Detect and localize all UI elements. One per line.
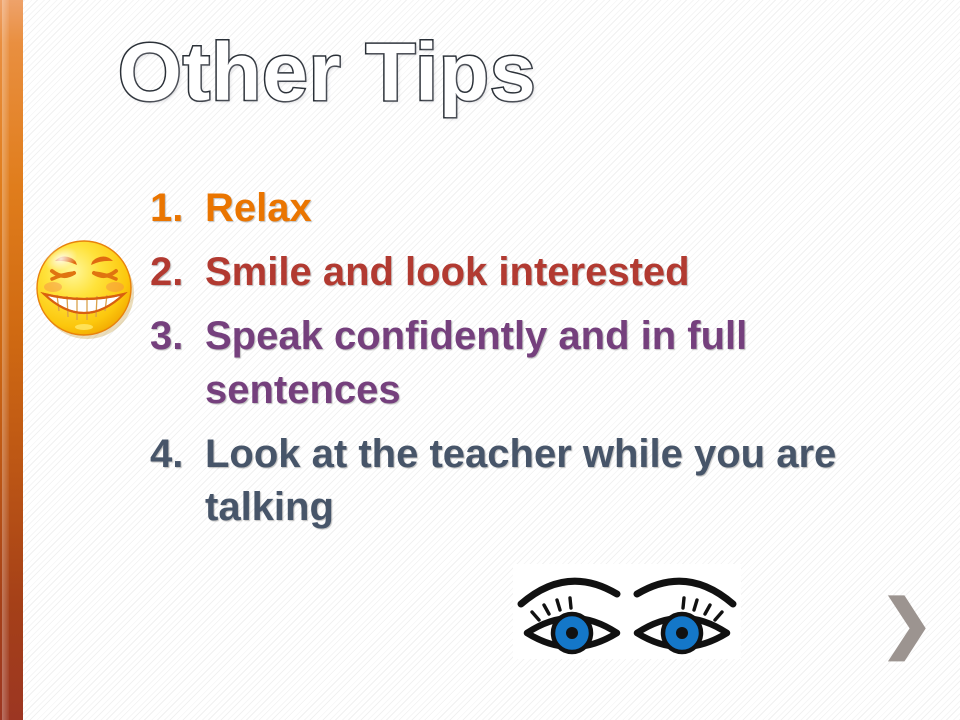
list-item-number: 1. [150,182,205,235]
tips-list: 1. Relax 2. Smile and look interested 3.… [150,182,910,545]
accent-bar-gloss [2,0,9,720]
left-accent-bar [0,0,23,720]
list-item-text: Smile and look interested [205,246,910,299]
list-item-number: 4. [150,428,205,481]
eyes-icon [513,564,741,659]
slide: Other Tips [0,0,960,720]
list-item-text: Relax [205,182,910,235]
list-item-text: Speak confidently and in full sentences [205,310,910,416]
list-item: 2. Smile and look interested [150,246,910,299]
next-slide-chevron-icon[interactable]: ❯ [880,595,920,655]
page-title: Other Tips [118,26,537,120]
list-item: 4. Look at the teacher while you are tal… [150,428,910,534]
smiley-face-icon [31,235,137,341]
list-item-text: Look at the teacher while you are talkin… [205,428,910,534]
list-item-number: 3. [150,310,205,363]
list-item-number: 2. [150,246,205,299]
list-item: 1. Relax [150,182,910,235]
list-item: 3. Speak confidently and in full sentenc… [150,310,910,416]
